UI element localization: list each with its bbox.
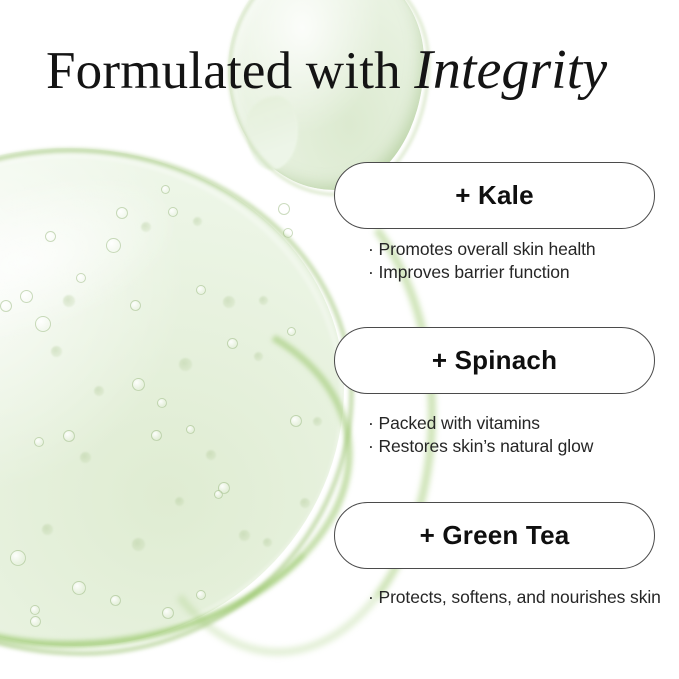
gel-bubble <box>313 417 322 426</box>
gel-bubble <box>290 415 302 427</box>
gel-bubble <box>223 296 235 308</box>
gel-bubble <box>45 231 56 242</box>
gel-bubble <box>20 290 33 303</box>
gel-bubble <box>227 338 238 349</box>
list-item: · Improves barrier function <box>368 261 668 284</box>
benefit-text: Packed with vitamins <box>379 413 540 433</box>
gel-bubble <box>72 581 86 595</box>
gel-bubble <box>132 538 145 551</box>
product-ingredients-infographic: Formulated with Integrity + Kale · Promo… <box>0 0 679 679</box>
page-title: Formulated with Integrity <box>46 38 646 103</box>
ingredient-title-green-tea: + Green Tea <box>420 520 570 551</box>
gel-bubble <box>157 398 167 408</box>
gel-bubble <box>214 490 223 499</box>
benefit-text: Improves barrier function <box>379 262 570 282</box>
gel-bubble <box>30 605 40 615</box>
gel-bubble <box>76 273 86 283</box>
list-item: · Protects, softens, and nourishes skin <box>368 586 668 609</box>
benefit-text: Restores skin’s natural glow <box>379 436 594 456</box>
gel-bubble <box>63 430 75 442</box>
gel-bubble <box>263 538 272 547</box>
bullet-icon: · <box>368 239 374 259</box>
gel-bubble <box>151 430 162 441</box>
gel-bubble <box>63 295 75 307</box>
page-title-lead: Formulated with <box>46 42 414 100</box>
gel-bubble <box>34 437 44 447</box>
gel-bubble <box>175 497 184 506</box>
gel-bubble <box>42 524 53 535</box>
list-item: · Restores skin’s natural glow <box>368 435 668 458</box>
gel-bubble <box>141 222 151 232</box>
gel-bubble <box>106 238 121 253</box>
ingredient-card-kale[interactable]: + Kale <box>334 162 655 229</box>
gel-bubble <box>132 378 145 391</box>
gel-bubble <box>35 316 51 332</box>
gel-bubble <box>10 550 26 566</box>
gel-bubble <box>206 450 216 460</box>
gel-bubble <box>259 296 268 305</box>
gel-bubble <box>239 530 250 541</box>
benefit-text: Protects, softens, and nourishes skin <box>379 587 661 607</box>
gel-bubble <box>283 228 293 238</box>
ingredient-title-spinach: + Spinach <box>432 345 557 376</box>
gel-bubble <box>278 203 290 215</box>
ingredient-title-kale: + Kale <box>455 180 534 211</box>
gel-bubble <box>0 300 12 312</box>
ingredient-benefits-kale: · Promotes overall skin health · Improve… <box>368 238 668 284</box>
bullet-icon: · <box>368 413 374 433</box>
gel-bubble <box>161 185 170 194</box>
gel-bubble <box>80 452 91 463</box>
ingredient-card-spinach[interactable]: + Spinach <box>334 327 655 394</box>
gel-bubble <box>186 425 195 434</box>
gel-bubble <box>193 217 202 226</box>
gel-bubble <box>300 498 310 508</box>
gel-bubble <box>196 590 206 600</box>
list-item: · Promotes overall skin health <box>368 238 668 261</box>
gel-bubble <box>168 207 178 217</box>
ingredient-benefits-spinach: · Packed with vitamins · Restores skin’s… <box>368 412 668 458</box>
ingredient-card-green-tea[interactable]: + Green Tea <box>334 502 655 569</box>
gel-bubble <box>179 358 192 371</box>
gel-bubble <box>94 386 104 396</box>
gel-bubble <box>110 595 121 606</box>
gel-bubble <box>162 607 174 619</box>
gel-bubble <box>287 327 296 336</box>
list-item: · Packed with vitamins <box>368 412 668 435</box>
gel-bubble <box>130 300 141 311</box>
gel-bubble <box>116 207 128 219</box>
page-title-emphasis: Integrity <box>414 39 607 101</box>
benefit-text: Promotes overall skin health <box>379 239 596 259</box>
gel-bubble <box>196 285 206 295</box>
gel-bubble <box>30 616 41 627</box>
bullet-icon: · <box>368 262 374 282</box>
bullet-icon: · <box>368 587 374 607</box>
gel-bubble <box>254 352 263 361</box>
ingredient-benefits-green-tea: · Protects, softens, and nourishes skin <box>368 586 668 609</box>
gel-bubble <box>51 346 62 357</box>
bullet-icon: · <box>368 436 374 456</box>
